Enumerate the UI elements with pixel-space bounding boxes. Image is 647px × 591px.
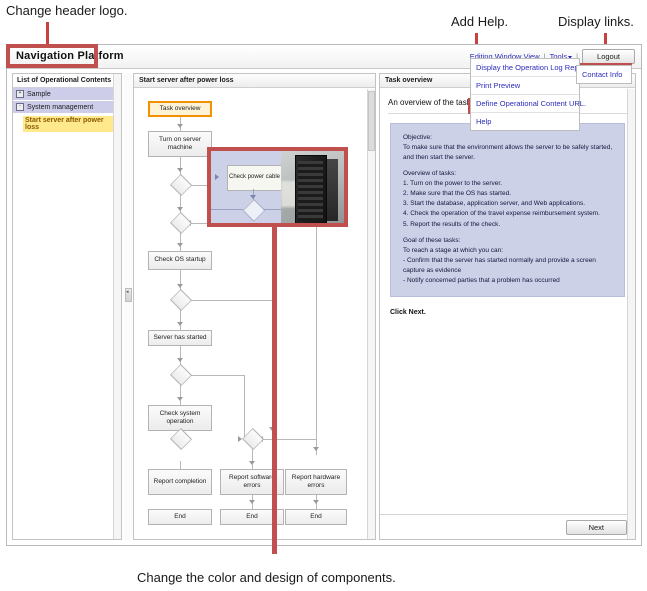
flow-connector xyxy=(262,439,317,440)
app-body: List of Operational Contents +Sample -Sy… xyxy=(7,69,641,545)
flow-node-server-has-started[interactable]: Server has started xyxy=(148,330,212,346)
callout-stem xyxy=(272,227,277,554)
annotation-line-1 xyxy=(46,22,49,44)
expand-icon[interactable]: + xyxy=(16,90,24,98)
flow-arrow-down xyxy=(177,243,183,247)
task-footer-divider xyxy=(380,514,635,515)
flow-arrow-down xyxy=(313,500,319,504)
rack-front-panel xyxy=(298,161,323,221)
task-objective-heading: Objective: xyxy=(403,133,615,143)
flow-connector xyxy=(252,449,253,469)
flow-node-turn-on-server[interactable]: Turn on server machine xyxy=(148,131,212,157)
flow-connector xyxy=(316,223,317,455)
inset-decision-diamond[interactable] xyxy=(243,199,266,222)
flow-arrow-down xyxy=(177,124,183,128)
flow-node-end-3[interactable]: End xyxy=(285,509,347,525)
app-title: Navigation Platform xyxy=(16,50,124,62)
sidebar-item-sample[interactable]: +Sample xyxy=(13,88,121,101)
task-objective-body: To make sure that the environment allows… xyxy=(403,143,615,163)
flow-node-report-hardware-errors[interactable]: Report hardware errors xyxy=(285,469,347,495)
flow-merge-diamond[interactable] xyxy=(242,428,264,450)
task-overview-panel: Task overview An overview of the task is… xyxy=(379,73,636,540)
flow-decision-5[interactable] xyxy=(170,428,192,450)
panel-splitter[interactable] xyxy=(124,73,132,540)
flow-arrow-down xyxy=(177,284,183,288)
flow-decision-2[interactable] xyxy=(170,212,192,234)
sidebar-item-start-server[interactable]: Start server after power loss xyxy=(23,116,121,132)
inset-arrow-right xyxy=(215,174,219,180)
sidebar-leaf-wrapper: Start server after power loss xyxy=(13,114,121,134)
flow-arrow-down xyxy=(177,358,183,362)
flow-decision-1[interactable] xyxy=(170,174,192,196)
flow-connector xyxy=(244,375,245,439)
contact-info-dropdown[interactable]: Contact Info xyxy=(576,65,632,84)
logout-button[interactable]: Logout xyxy=(582,49,635,64)
task-overview-list: 1. Turn on the power to the server. 2. M… xyxy=(403,179,615,229)
flow-node-end-1[interactable]: End xyxy=(148,509,212,525)
task-content-box: Objective: To make sure that the environ… xyxy=(390,123,625,297)
sidebar-header: List of Operational Contents xyxy=(13,74,121,88)
flow-scrollbar-thumb[interactable] xyxy=(368,91,375,151)
flow-panel: Start server after power loss xyxy=(133,73,376,540)
flow-panel-header: Start server after power loss xyxy=(134,74,375,88)
sidebar-operational-contents: List of Operational Contents +Sample -Sy… xyxy=(12,73,122,540)
component-design-inset: Check power cable xyxy=(207,147,348,227)
flow-scrollbar[interactable] xyxy=(367,89,375,539)
task-overview-heading: Overview of tasks: xyxy=(403,169,615,179)
flow-node-check-os-startup[interactable]: Check OS startup xyxy=(148,251,212,270)
flow-node-task-overview[interactable]: Task overview xyxy=(148,101,212,117)
inset-connector xyxy=(211,209,243,210)
flow-node-report-completion[interactable]: Report completion xyxy=(148,469,212,495)
flow-connector xyxy=(190,375,245,376)
task-click-next-text: Click Next. xyxy=(390,309,635,316)
inset-node-check-power-cable[interactable]: Check power cable xyxy=(227,165,282,191)
annotation-change-color-design: Change the color and design of component… xyxy=(137,570,396,585)
collapse-icon[interactable]: - xyxy=(16,103,24,111)
menu-item-contact-info[interactable]: Contact Info xyxy=(577,66,631,83)
task-goal-body: To reach a stage at which you can: - Con… xyxy=(403,246,615,286)
flow-arrow-down xyxy=(177,207,183,211)
rack-chassis xyxy=(295,155,327,223)
menu-item-help[interactable]: Help xyxy=(471,113,579,130)
menu-item-print-preview[interactable]: Print Preview xyxy=(471,77,579,95)
task-goal-heading: Goal of these tasks: xyxy=(403,236,615,246)
flow-connector xyxy=(190,300,273,301)
inset-flow-background: Check power cable xyxy=(211,151,289,223)
next-button[interactable]: Next xyxy=(566,520,627,535)
task-scrollbar[interactable] xyxy=(627,89,635,539)
flow-decision-4[interactable] xyxy=(170,364,192,386)
sidebar-item-system-management[interactable]: -System management xyxy=(13,101,121,114)
sidebar-item-label: System management xyxy=(27,104,93,111)
splitter-collapse-handle[interactable] xyxy=(125,288,132,302)
flow-arrow-down xyxy=(177,397,183,401)
flow-arrow-down xyxy=(177,168,183,172)
annotation-display-links: Display links. xyxy=(558,14,634,29)
flow-arrow-down xyxy=(177,322,183,326)
sidebar-scrollbar[interactable] xyxy=(113,74,121,539)
menu-item-define-operational-content-url[interactable]: Define Operational Content URL. xyxy=(471,95,579,113)
flow-arrow-down xyxy=(249,500,255,504)
flow-arrow-down xyxy=(249,461,255,465)
tools-dropdown-menu[interactable]: Display the Operation Log Report Print P… xyxy=(470,58,580,131)
menu-item-operation-log-report[interactable]: Display the Operation Log Report xyxy=(471,59,579,77)
annotation-change-header-logo: Change header logo. xyxy=(6,3,127,18)
sidebar-item-label: Sample xyxy=(27,91,51,98)
flow-decision-3[interactable] xyxy=(170,289,192,311)
flow-arrow-down xyxy=(313,447,319,451)
server-rack-photo xyxy=(281,151,344,223)
annotation-add-help: Add Help. xyxy=(451,14,508,29)
